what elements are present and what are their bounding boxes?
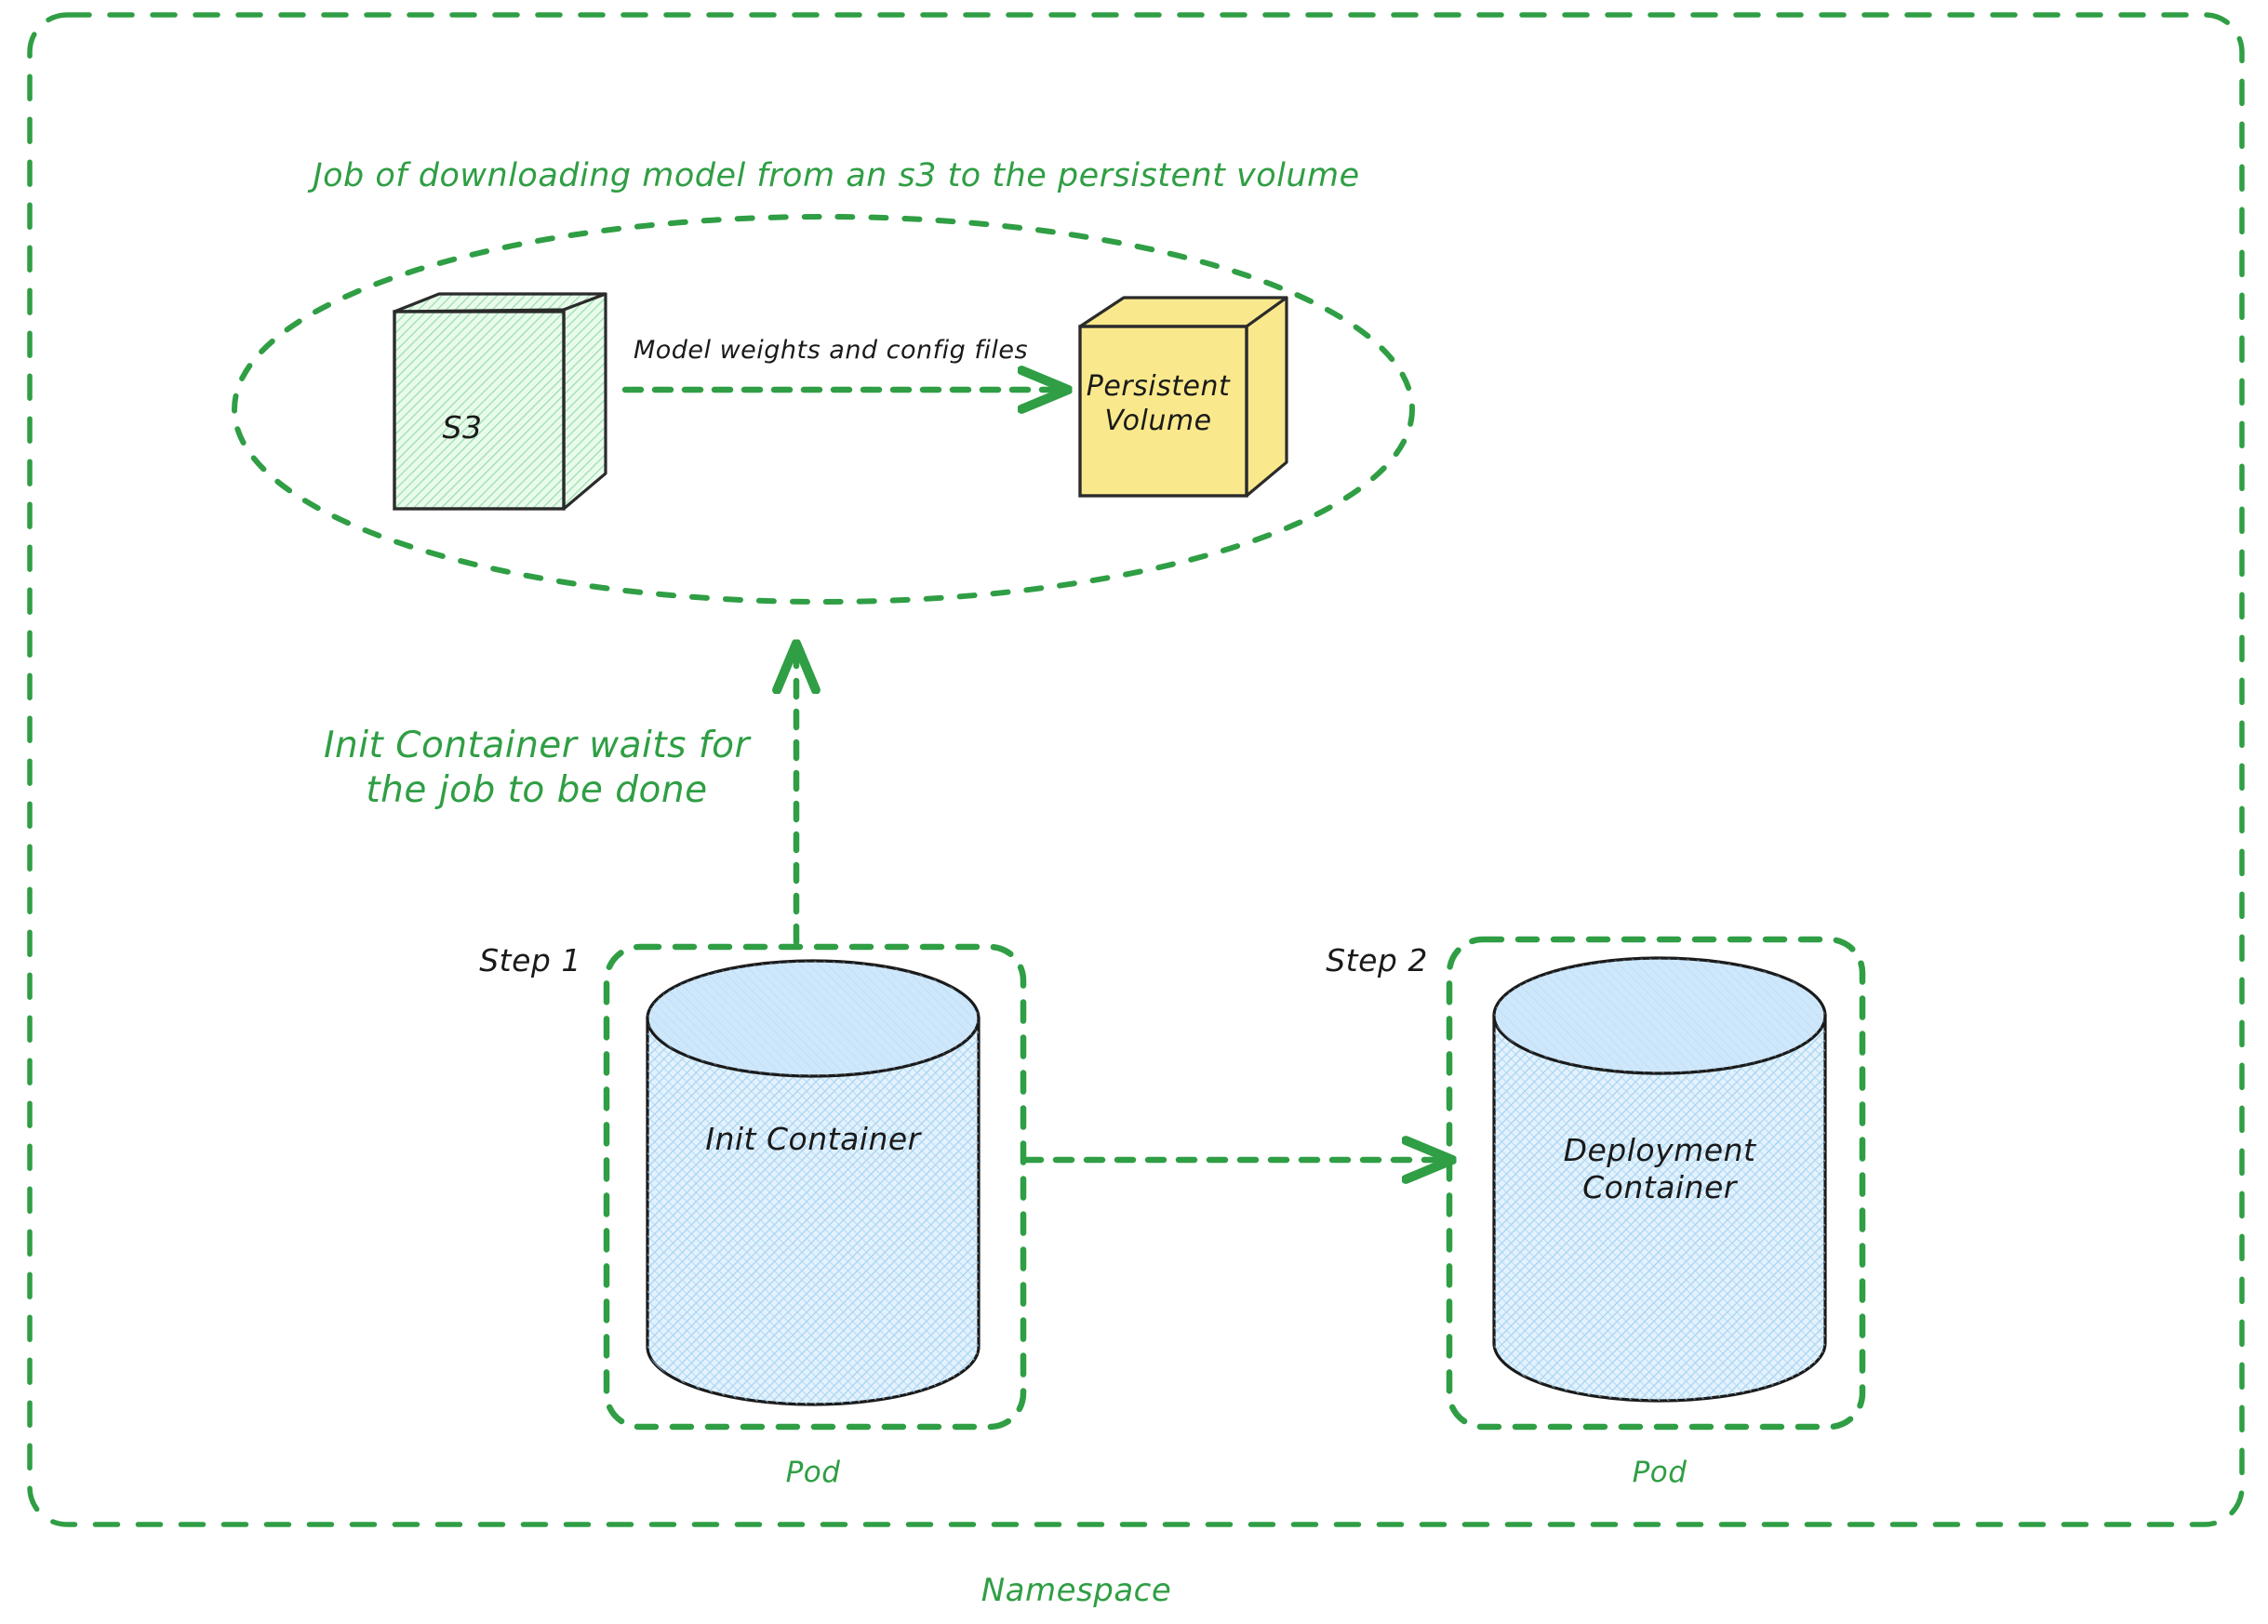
init-container-cylinder: [647, 961, 979, 1404]
pod-1-label: Pod: [786, 1456, 841, 1491]
init-wait-label-line2: the job to be done: [366, 769, 707, 811]
init-wait-label-line1: Init Container waits for: [324, 725, 750, 766]
pod-2-label: Pod: [1633, 1456, 1688, 1491]
s3-cube-label: S3: [443, 409, 483, 446]
step-1-label: Step 1: [479, 942, 581, 979]
init-wait-label: Init Container waits forthe job to be do…: [324, 724, 750, 812]
job-group-title: Job of downloading model from an s3 to t…: [313, 156, 1359, 196]
diagram-canvas: Job of downloading model from an s3 to t…: [0, 0, 2268, 1624]
model-transfer-label: Model weights and config files: [634, 336, 1028, 366]
deployment-container-label: DeploymentContainer: [1564, 1132, 1756, 1207]
namespace-label: Namespace: [981, 1572, 1172, 1610]
step-2-label: Step 2: [1326, 942, 1428, 979]
persistent-volume-label-line1: Persistent: [1087, 370, 1230, 403]
deployment-container-label-line2: Container: [1582, 1169, 1737, 1205]
s3-cube: [394, 294, 606, 509]
persistent-volume-label: PersistentVolume: [1087, 370, 1230, 438]
deployment-container-label-line1: Deployment: [1564, 1132, 1756, 1168]
init-container-label: Init Container: [705, 1121, 921, 1158]
persistent-volume-label-line2: Volume: [1104, 405, 1211, 437]
